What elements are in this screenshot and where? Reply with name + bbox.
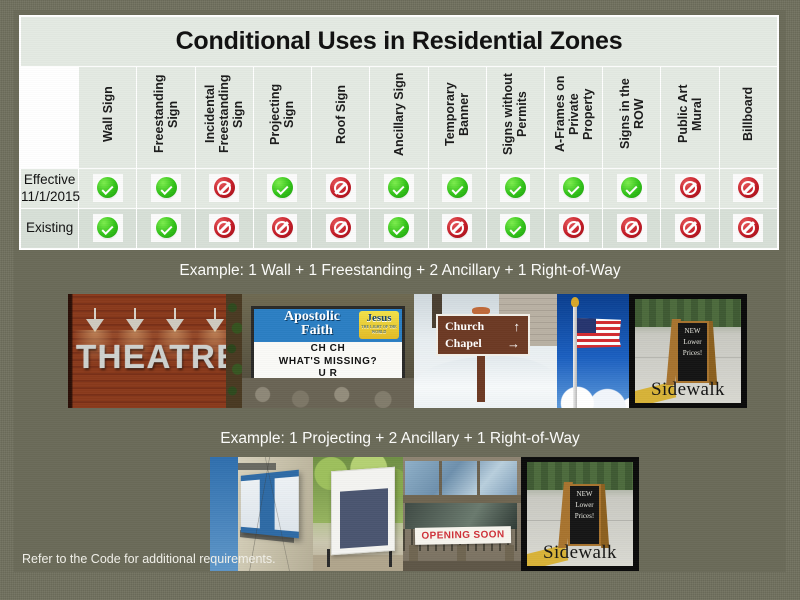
- cell-existing-billboard: [719, 209, 777, 249]
- cell-existing-freestanding-sign: [137, 209, 195, 249]
- allowed-check-icon: [97, 217, 118, 238]
- column-header-signs-without-permits: Signs without Permits: [486, 67, 544, 169]
- flag-canton: [577, 318, 596, 333]
- cell-effective-roof-sign: [312, 169, 370, 209]
- status-icon-slot: [559, 174, 589, 202]
- church-chapel-directional-sign-photo: Church ↑ Chapel →: [414, 294, 557, 408]
- cell-effective-temporary-banner: [428, 169, 486, 209]
- upper-windows: [405, 461, 517, 495]
- column-header-label: Wall Sign: [101, 68, 115, 162]
- allowed-check-icon: [563, 177, 584, 198]
- cell-effective-signs-in-the-row: [603, 169, 661, 209]
- chalk-line-3: Prices!: [570, 511, 599, 522]
- footer-note: Refer to the Code for additional require…: [14, 546, 534, 572]
- right-arrow-icon: →: [507, 337, 520, 350]
- column-header-incidental-freestanding-sign: Incidental Freestanding Sign: [195, 67, 253, 169]
- status-icon-slot: [500, 214, 530, 242]
- cell-existing-signs-without-permits: [486, 209, 544, 249]
- presentation-slide: Conditional Uses in Residential Zones Wa…: [14, 10, 786, 572]
- column-header-temporary-banner: Temporary Banner: [428, 67, 486, 169]
- prohibited-icon: [272, 217, 293, 238]
- prohibited-icon: [214, 217, 235, 238]
- column-header-label: Roof Sign: [334, 68, 348, 162]
- prohibited-icon: [621, 217, 642, 238]
- facade-beam: [403, 495, 521, 503]
- column-header-label: Signs without Permits: [501, 68, 529, 162]
- blank-sign-panel: [340, 488, 388, 548]
- chalk-line-3: Prices!: [678, 348, 707, 359]
- reader-board-text: CH CH WHAT'S MISSING? U R: [254, 343, 402, 381]
- status-icon-slot: [209, 214, 239, 242]
- status-icon-slot: [617, 214, 647, 242]
- opening-soon-banner: OPENING SOON: [415, 526, 511, 545]
- prohibited-icon: [738, 217, 759, 238]
- flag-pole: [573, 304, 577, 408]
- chalk-text: NEW Lower Prices!: [678, 326, 707, 359]
- flag-finial: [571, 297, 579, 307]
- directional-line-1: Church: [445, 319, 484, 334]
- cell-effective-incidental-freestanding-sign: [195, 169, 253, 209]
- column-header-label: Projecting Sign: [268, 68, 296, 162]
- apostolic-faith-freestanding-sign-photo: Apostolic Faith Jesus THE LIGHT OF THE W…: [242, 294, 414, 408]
- cell-existing-ancillary-sign: [370, 209, 428, 249]
- cell-existing-signs-in-the-row: [603, 209, 661, 249]
- column-header-public-art-mural: Public Art Mural: [661, 67, 719, 169]
- cloud: [557, 378, 629, 408]
- table-corner-cell: [21, 67, 79, 169]
- chalk-line-2: Lower: [570, 500, 599, 511]
- status-icon-slot: [559, 214, 589, 242]
- prohibited-icon: [330, 217, 351, 238]
- allowed-check-icon: [388, 177, 409, 198]
- status-icon-slot: [500, 174, 530, 202]
- status-icon-slot: [733, 214, 763, 242]
- status-icon-slot: [675, 174, 705, 202]
- page-title: Conditional Uses in Residential Zones: [21, 17, 778, 67]
- reader-line-1: CH CH: [254, 343, 402, 356]
- status-icon-slot: [267, 174, 297, 202]
- status-icon-slot: [442, 214, 472, 242]
- column-header-wall-sign: Wall Sign: [79, 67, 137, 169]
- jesus-logo: Jesus THE LIGHT OF THE WORLD: [359, 311, 399, 339]
- church-name-line-2: Faith: [270, 323, 364, 339]
- chalk-line-1: NEW: [570, 489, 599, 500]
- column-header-label: Temporary Banner: [443, 68, 471, 162]
- cell-effective-signs-without-permits: [486, 169, 544, 209]
- sidewalk-caption: Sidewalk: [635, 379, 741, 401]
- column-header-label: Billboard: [741, 68, 755, 162]
- allowed-check-icon: [97, 177, 118, 198]
- column-header-label: Signs in the ROW: [618, 68, 646, 162]
- sidewalk-a-frame-photo: NEW Lower Prices! Sidewalk: [629, 294, 747, 408]
- snow-ground: [414, 356, 557, 408]
- up-arrow-icon: ↑: [514, 320, 521, 333]
- allowed-check-icon: [156, 217, 177, 238]
- column-header-projecting-sign: Projecting Sign: [253, 67, 311, 169]
- status-icon-slot: [675, 214, 705, 242]
- prohibited-icon: [680, 177, 701, 198]
- chalk-text: NEW Lower Prices!: [570, 489, 599, 522]
- chalkboard-panel: NEW Lower Prices!: [568, 484, 601, 546]
- reader-board: Apostolic Faith Jesus THE LIGHT OF THE W…: [251, 306, 405, 384]
- chalkboard-panel: NEW Lower Prices!: [676, 321, 709, 383]
- photo-inner: NEW Lower Prices! Sidewalk: [635, 299, 741, 403]
- cell-existing-roof-sign: [312, 209, 370, 249]
- conditional-uses-table: Conditional Uses in Residential Zones Wa…: [19, 15, 779, 250]
- row-label-effective: Effective 11/1/2015: [21, 169, 79, 209]
- cell-effective-public-art-mural: [661, 169, 719, 209]
- cell-existing-public-art-mural: [661, 209, 719, 249]
- column-header-label: Freestanding Sign: [152, 68, 180, 162]
- directional-sign-panel: Church ↑ Chapel →: [436, 314, 530, 356]
- sidewalk-a-frame-photo-2: NEW Lower Prices! Sidewalk: [521, 457, 639, 571]
- theatre-sign-text: THEATRE: [76, 338, 234, 376]
- photo-inner: NEW Lower Prices! Sidewalk: [527, 462, 633, 566]
- table-row: Existing: [21, 209, 778, 249]
- cell-existing-temporary-banner: [428, 209, 486, 249]
- cell-existing-a-frames-private-property: [544, 209, 602, 249]
- a-frame-sign-face: [331, 467, 395, 555]
- status-icon-slot: [93, 174, 123, 202]
- cell-existing-wall-sign: [79, 209, 137, 249]
- cell-effective-freestanding-sign: [137, 169, 195, 209]
- status-icon-slot: [209, 174, 239, 202]
- cell-effective-ancillary-sign: [370, 169, 428, 209]
- column-header-roof-sign: Roof Sign: [312, 67, 370, 169]
- ivy-foliage: [226, 294, 242, 408]
- prohibited-icon: [214, 177, 235, 198]
- american-flag-photo: [557, 294, 629, 408]
- column-header-label: Ancillary Sign: [392, 68, 406, 162]
- sidewalk-caption: Sidewalk: [527, 542, 633, 564]
- status-icon-slot: [151, 214, 181, 242]
- allowed-check-icon: [388, 217, 409, 238]
- sign-post: [477, 356, 485, 402]
- table-title-row: Conditional Uses in Residential Zones: [21, 17, 778, 67]
- cell-effective-billboard: [719, 169, 777, 209]
- allowed-check-icon: [505, 217, 526, 238]
- cell-existing-projecting-sign: [253, 209, 311, 249]
- cell-effective-a-frames-private-property: [544, 169, 602, 209]
- column-header-signs-in-the-row: Signs in the ROW: [603, 67, 661, 169]
- allowed-check-icon: [447, 177, 468, 198]
- cell-existing-incidental-freestanding-sign: [195, 209, 253, 249]
- example-1-photo-strip: THEATRE Apostolic Faith Jesus THE LIGHT …: [68, 294, 747, 408]
- column-header-ancillary-sign: Ancillary Sign: [370, 67, 428, 169]
- prohibited-icon: [680, 217, 701, 238]
- lower-windows: [405, 503, 517, 529]
- prohibited-icon: [447, 217, 468, 238]
- status-icon-slot: [442, 174, 472, 202]
- allowed-check-icon: [272, 177, 293, 198]
- status-icon-slot: [617, 174, 647, 202]
- prohibited-icon: [330, 177, 351, 198]
- column-header-label: Public Art Mural: [676, 68, 704, 162]
- prohibited-icon: [563, 217, 584, 238]
- directional-line-2: Chapel: [445, 336, 482, 351]
- column-header-label: A-Frames on Private Property: [553, 68, 595, 162]
- theatre-wall-sign-photo: THEATRE: [68, 294, 242, 408]
- cell-effective-wall-sign: [79, 169, 137, 209]
- allowed-check-icon: [156, 177, 177, 198]
- example-2-caption: Example: 1 Projecting + 2 Ancillary + 1 …: [14, 430, 786, 448]
- column-header-freestanding-sign: Freestanding Sign: [137, 67, 195, 169]
- status-icon-slot: [326, 174, 356, 202]
- example-1-caption: Example: 1 Wall + 1 Freestanding + 2 Anc…: [14, 262, 786, 280]
- column-header-label: Incidental Freestanding Sign: [203, 68, 245, 162]
- reader-line-2: WHAT'S MISSING?: [254, 356, 402, 369]
- allowed-check-icon: [621, 177, 642, 198]
- status-icon-slot: [151, 174, 181, 202]
- banner-text: OPENING SOON: [415, 526, 511, 545]
- cell-effective-projecting-sign: [253, 169, 311, 209]
- column-header-billboard: Billboard: [719, 67, 777, 169]
- row-label-existing: Existing: [21, 209, 79, 249]
- status-icon-slot: [267, 214, 297, 242]
- status-icon-slot: [733, 174, 763, 202]
- allowed-check-icon: [505, 177, 526, 198]
- chalk-line-2: Lower: [678, 337, 707, 348]
- chalk-line-1: NEW: [678, 326, 707, 337]
- column-header-a-frames-on-private-property: A-Frames on Private Property: [544, 67, 602, 169]
- table-row: Effective 11/1/2015: [21, 169, 778, 209]
- rock-landscaping: [242, 378, 414, 408]
- status-icon-slot: [384, 174, 414, 202]
- status-icon-slot: [384, 214, 414, 242]
- table-header-row: Wall Sign Freestanding Sign Incidental F…: [21, 67, 778, 169]
- status-icon-slot: [326, 214, 356, 242]
- matrix-table: Conditional Uses in Residential Zones Wa…: [20, 16, 778, 249]
- prohibited-icon: [738, 177, 759, 198]
- status-icon-slot: [93, 214, 123, 242]
